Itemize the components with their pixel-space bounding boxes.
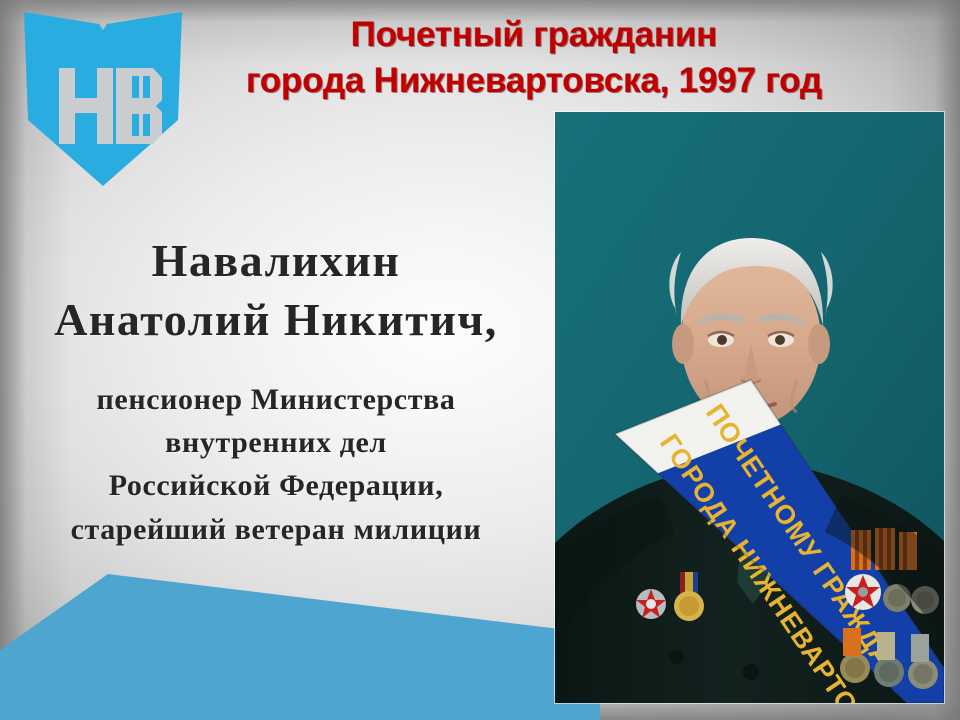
description-line-4: старейший ветеран милиции xyxy=(0,508,552,551)
person-surname: Навалихин xyxy=(0,232,552,291)
bottom-left-blue-wedge xyxy=(0,560,600,720)
iris-right xyxy=(775,335,785,345)
nizhnevartovsk-shield-logo xyxy=(20,8,186,190)
slide-title: Почетный гражданин города Нижневартовска… xyxy=(196,12,872,103)
order-red-star xyxy=(845,574,881,610)
person-firstname-patronymic: Анатолий Никитич, xyxy=(0,291,552,350)
medal-row-lower-right xyxy=(840,628,938,689)
portrait-illustration: ПОЧЕТНОМУ ГРАЖДАН ГОРОДА НИЖНЕВАРТО xyxy=(555,112,944,703)
iris-left xyxy=(717,335,727,345)
jacket-button-upper xyxy=(670,650,684,664)
slide-canvas: Почетный гражданин города Нижневартовска… xyxy=(0,0,960,720)
person-description: пенсионер Министерства внутренних дел Ро… xyxy=(0,378,552,551)
description-line-1: пенсионер Министерства xyxy=(0,378,552,421)
person-name: Навалихин Анатолий Никитич, xyxy=(0,232,552,350)
ear-left xyxy=(672,324,694,364)
title-line-2: города Нижневартовска, 1997 год xyxy=(196,58,872,104)
description-line-3: Российской Федерации, xyxy=(0,464,552,507)
portrait-photo: ПОЧЕТНОМУ ГРАЖДАН ГОРОДА НИЖНЕВАРТО xyxy=(555,112,944,703)
title-line-1: Почетный гражданин xyxy=(196,12,872,58)
jacket-button-lower xyxy=(743,664,759,680)
description-line-2: внутренних дел xyxy=(0,421,552,464)
ear-right xyxy=(808,324,830,364)
